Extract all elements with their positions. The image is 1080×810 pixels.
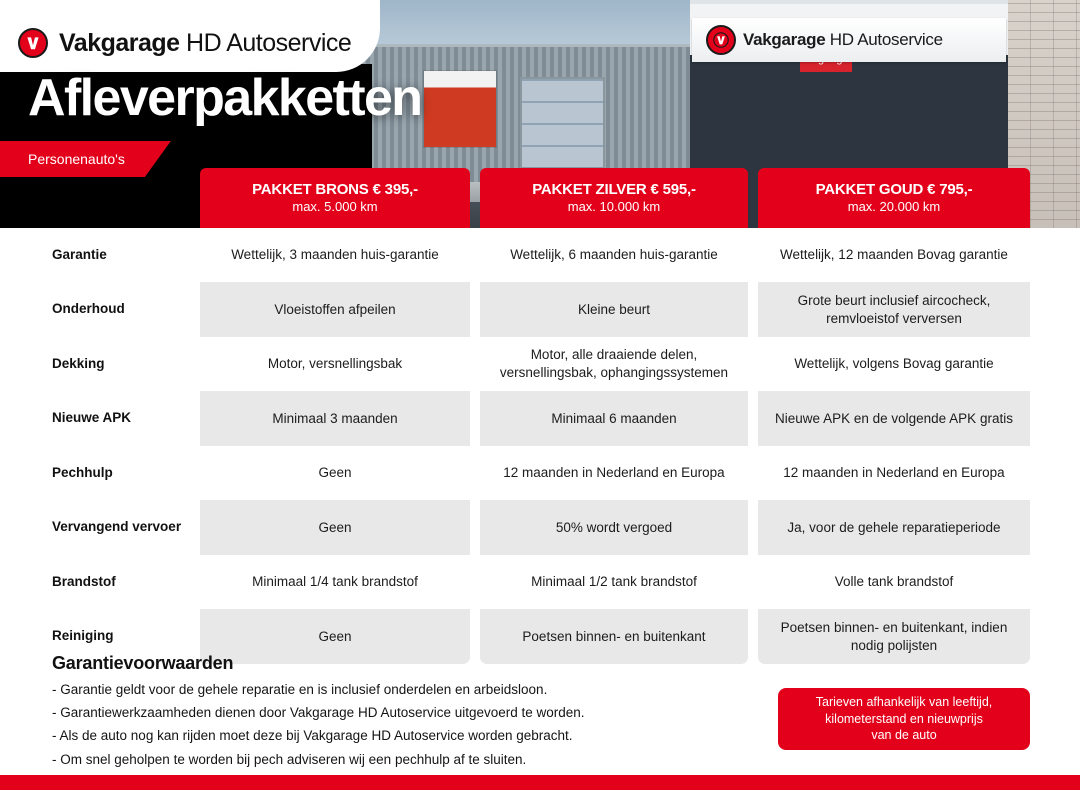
cell-goud: Wettelijk, 12 maanden Bovag garantie xyxy=(758,228,1030,282)
cell-goud: 12 maanden in Nederland en Europa xyxy=(758,446,1030,500)
conditions-title: Garantievoorwaarden xyxy=(52,653,233,674)
cell-goud: Wettelijk, volgens Bovag garantie xyxy=(758,337,1030,391)
package-header-zilver[interactable]: PAKKET ZILVER € 595,- max. 10.000 km xyxy=(480,168,748,228)
package-comparison-table: Garantie Wettelijk, 3 maanden huis-garan… xyxy=(0,228,1080,664)
brand-name: Vakgarage HD Autoservice xyxy=(59,29,351,58)
row-label: Nieuwe APK xyxy=(0,391,200,446)
table-row: Garantie Wettelijk, 3 maanden huis-garan… xyxy=(0,228,1080,282)
photo-wall-banner xyxy=(424,71,496,147)
package-title: PAKKET GOUD € 795,- xyxy=(816,181,973,199)
cell-brons: Minimaal 3 maanden xyxy=(200,391,470,446)
notice-line-2: kilometerstand en nieuwprijs xyxy=(825,711,983,728)
row-label: Vervangend vervoer xyxy=(0,500,200,555)
row-label: Onderhoud xyxy=(0,282,200,337)
list-item: - Garantiewerkzaamheden dienen door Vakg… xyxy=(52,701,585,724)
segment-tab-personenautos[interactable]: Personenauto's xyxy=(0,141,171,177)
list-item: - Garantie geldt voor de gehele reparati… xyxy=(52,678,585,701)
row-label: Pechhulp xyxy=(0,446,200,500)
brand-logo: Vakgarage HD Autoservice xyxy=(18,28,351,58)
vakgarage-v-logo-icon xyxy=(18,28,48,58)
cell-zilver: Motor, alle draaiende delen, versnelling… xyxy=(480,337,748,391)
cell-zilver: Wettelijk, 6 maanden huis-garantie xyxy=(480,228,748,282)
cell-brons: Minimaal 1/4 tank brandstof xyxy=(200,555,470,609)
photo-sign-light: HD Autoservice xyxy=(825,30,942,49)
cell-zilver: Minimaal 6 maanden xyxy=(480,391,748,446)
table-row: Dekking Motor, versnellingsbak Motor, al… xyxy=(0,337,1080,391)
package-title: PAKKET ZILVER € 595,- xyxy=(532,181,696,199)
table-row: Brandstof Minimaal 1/4 tank brandstof Mi… xyxy=(0,555,1080,609)
brand-name-light: HD Autoservice xyxy=(180,29,352,57)
cell-zilver: 50% wordt vergoed xyxy=(480,500,748,555)
cell-brons: Geen xyxy=(200,446,470,500)
table-row: Nieuwe APK Minimaal 3 maanden Minimaal 6… xyxy=(0,391,1080,446)
logo-plate: Vakgarage HD Autoservice xyxy=(0,0,380,72)
photo-facade-sign: Vakgarage HD Autoservice xyxy=(692,18,1006,62)
pricing-notice-badge: Tarieven afhankelijk van leeftijd, kilom… xyxy=(778,688,1030,750)
cell-goud: Ja, voor de gehele reparatieperiode xyxy=(758,500,1030,555)
package-subtitle: max. 10.000 km xyxy=(568,199,661,214)
page-title: Afleverpakketten xyxy=(28,72,421,124)
cell-zilver: 12 maanden in Nederland en Europa xyxy=(480,446,748,500)
cell-zilver: Kleine beurt xyxy=(480,282,748,337)
row-label: Garantie xyxy=(0,228,200,282)
row-label: Dekking xyxy=(0,337,200,391)
cell-goud: Grote beurt inclusief aircocheck, remvlo… xyxy=(758,282,1030,337)
package-header-brons[interactable]: PAKKET BRONS € 395,- max. 5.000 km xyxy=(200,168,470,228)
package-subtitle: max. 20.000 km xyxy=(848,199,941,214)
package-subtitle: max. 5.000 km xyxy=(292,199,377,214)
cell-brons: Motor, versnellingsbak xyxy=(200,337,470,391)
photo-sign-bold: Vakgarage xyxy=(743,30,825,49)
table-row: Pechhulp Geen 12 maanden in Nederland en… xyxy=(0,446,1080,500)
hero-banner: ingang Vakgarage HD Autoservice xyxy=(0,0,1080,228)
row-label: Brandstof xyxy=(0,555,200,609)
table-row: Onderhoud Vloeistoffen afpeilen Kleine b… xyxy=(0,282,1080,337)
photo-garage-door xyxy=(520,77,605,169)
cell-brons: Wettelijk, 3 maanden huis-garantie xyxy=(200,228,470,282)
vakgarage-v-logo-icon xyxy=(706,25,736,55)
cell-goud: Volle tank brandstof xyxy=(758,555,1030,609)
package-title: PAKKET BRONS € 395,- xyxy=(252,181,418,199)
notice-line-1: Tarieven afhankelijk van leeftijd, xyxy=(816,694,993,711)
list-item: - Om snel geholpen te worden bij pech ad… xyxy=(52,748,585,771)
cell-brons: Geen xyxy=(200,500,470,555)
cell-brons: Vloeistoffen afpeilen xyxy=(200,282,470,337)
afleverpakketten-poster: ingang Vakgarage HD Autoservice xyxy=(0,0,1080,810)
photo-facade-sign-text: Vakgarage HD Autoservice xyxy=(743,30,943,50)
brand-name-bold: Vakgarage xyxy=(59,29,180,57)
table-row: Vervangend vervoer Geen 50% wordt vergoe… xyxy=(0,500,1080,555)
package-header-goud[interactable]: PAKKET GOUD € 795,- max. 20.000 km xyxy=(758,168,1030,228)
cell-zilver: Minimaal 1/2 tank brandstof xyxy=(480,555,748,609)
cell-goud: Nieuwe APK en de volgende APK gratis xyxy=(758,391,1030,446)
bottom-red-stripe xyxy=(0,775,1080,790)
list-item: - Als de auto nog kan rijden moet deze b… xyxy=(52,724,585,747)
notice-line-3: van de auto xyxy=(871,727,936,744)
